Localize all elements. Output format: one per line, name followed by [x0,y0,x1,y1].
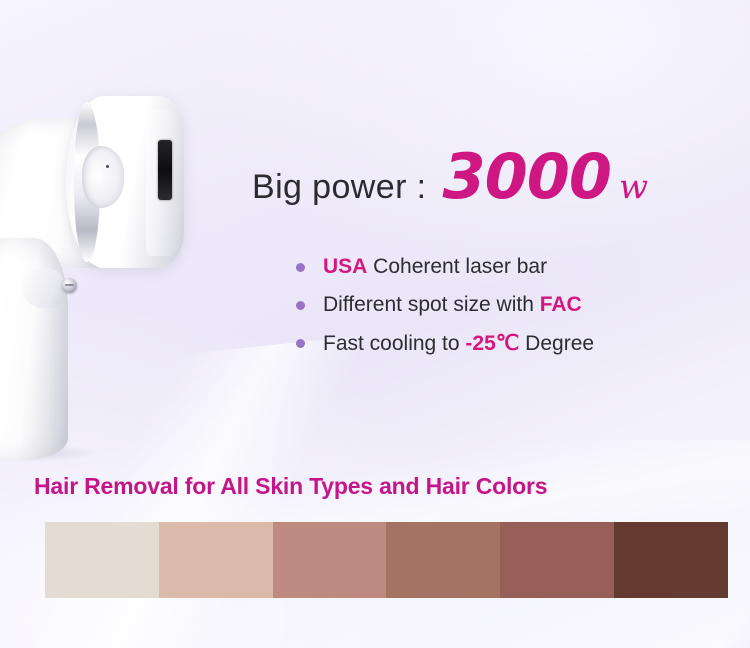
feature-text-2: Different spot size with FAC [323,293,582,317]
skin-swatch-6 [614,522,728,598]
list-item: Different spot size with FAC [296,286,594,324]
product-feature-banner: Big power : 3000 w USA Coherent laser ba… [0,0,750,648]
bullet-dot-icon [296,263,305,272]
feature-text-1: USA Coherent laser bar [323,255,547,279]
skin-swatch-4 [386,522,500,598]
laser-handpiece-image [0,40,260,460]
feature-list: USA Coherent laser bar Different spot si… [296,248,594,362]
skin-tone-swatch-strip [45,522,728,598]
skin-swatch-1 [45,522,159,598]
skin-section-heading: Hair Removal for All Skin Types and Hair… [34,473,547,500]
feature-text-3: Fast cooling to -25℃ Degree [323,331,594,356]
handpiece-lens-dot [106,165,109,168]
handpiece-grip-notch [22,268,64,308]
handpiece-lens [82,146,124,208]
skin-swatch-2 [159,522,273,598]
headline: Big power : 3000 w [252,140,648,213]
skin-swatch-3 [273,522,387,598]
power-value: 3000 [442,140,611,213]
list-item: Fast cooling to -25℃ Degree [296,324,594,362]
headline-label: Big power : [252,168,426,207]
list-item: USA Coherent laser bar [296,248,594,286]
laser-aperture-window [158,140,172,200]
bullet-dot-icon [296,301,305,310]
skin-swatch-5 [500,522,614,598]
bullet-dot-icon [296,339,305,348]
power-unit: w [619,167,648,207]
handpiece-screw [62,278,77,293]
